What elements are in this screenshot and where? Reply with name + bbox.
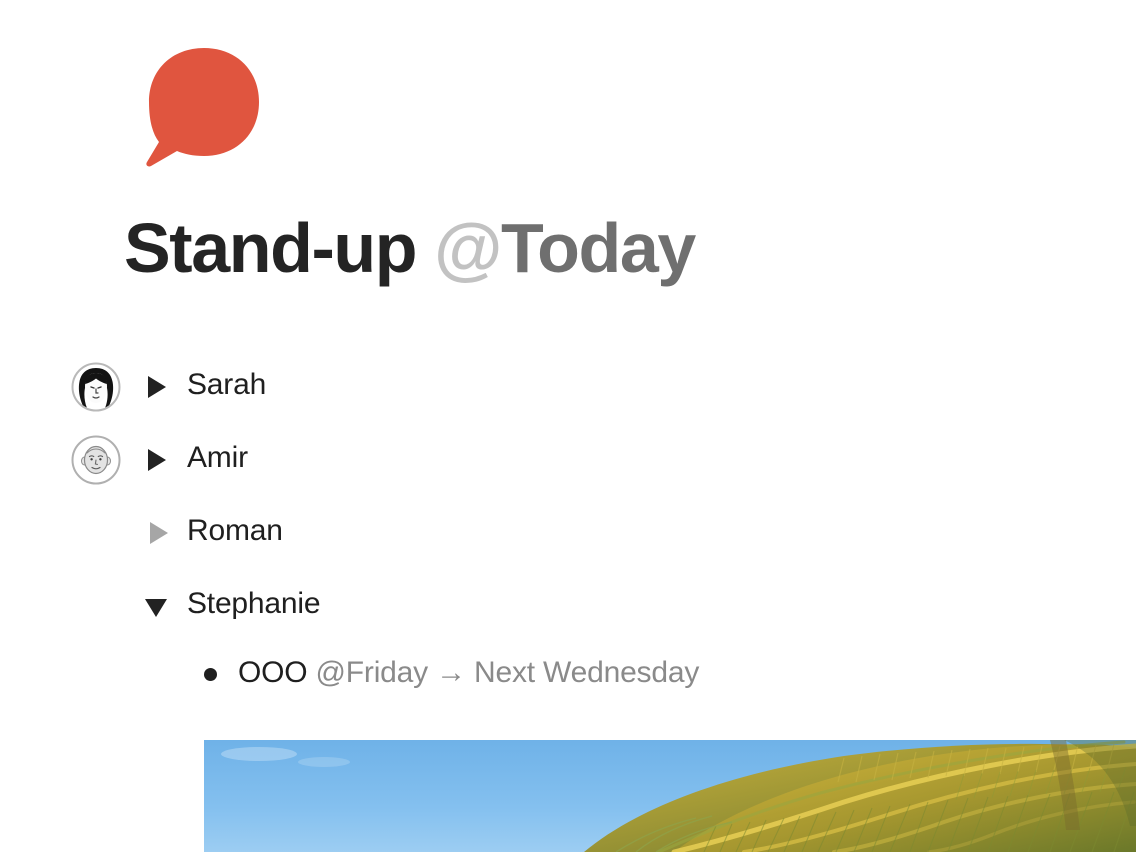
outline-list: Sarah Amir (0, 358, 1136, 722)
outline-subrow-ooo[interactable]: OOO @Friday → Next Wednesday (0, 650, 1136, 722)
disclosure-triangle-sarah[interactable] (148, 376, 166, 398)
disclosure-triangle-stephanie[interactable] (145, 599, 167, 617)
outline-label-roman: Roman (187, 509, 283, 553)
outline-row-roman[interactable]: Roman (0, 504, 1136, 577)
sublabel-muted: @Friday → Next Wednesday (316, 656, 700, 689)
outline-row-sarah[interactable]: Sarah (0, 358, 1136, 431)
disclosure-triangle-roman[interactable] (150, 522, 168, 544)
sublabel-strong: OOO (238, 656, 307, 689)
avatar-sarah (71, 362, 121, 412)
outline-sublabel-ooo: OOO @Friday → Next Wednesday (238, 650, 699, 696)
page-title-tag: Today (501, 209, 695, 287)
outline-row-amir[interactable]: Amir (0, 431, 1136, 504)
page-title-at-symbol: @ (434, 209, 501, 287)
disclosure-triangle-amir[interactable] (148, 449, 166, 471)
speech-bubble-icon (141, 46, 267, 170)
outline-label-sarah: Sarah (187, 363, 266, 407)
avatar-amir (71, 435, 121, 485)
page-title: Stand-up @Today (124, 213, 695, 283)
palm-trees-photo[interactable] (204, 740, 1136, 852)
outline-label-stephanie: Stephanie (187, 582, 320, 626)
page-title-main: Stand-up (124, 209, 416, 287)
document-canvas: Stand-up @Today (0, 0, 1136, 852)
outline-label-amir: Amir (187, 436, 248, 480)
bullet-icon (204, 668, 217, 681)
outline-row-stephanie[interactable]: Stephanie (0, 577, 1136, 650)
